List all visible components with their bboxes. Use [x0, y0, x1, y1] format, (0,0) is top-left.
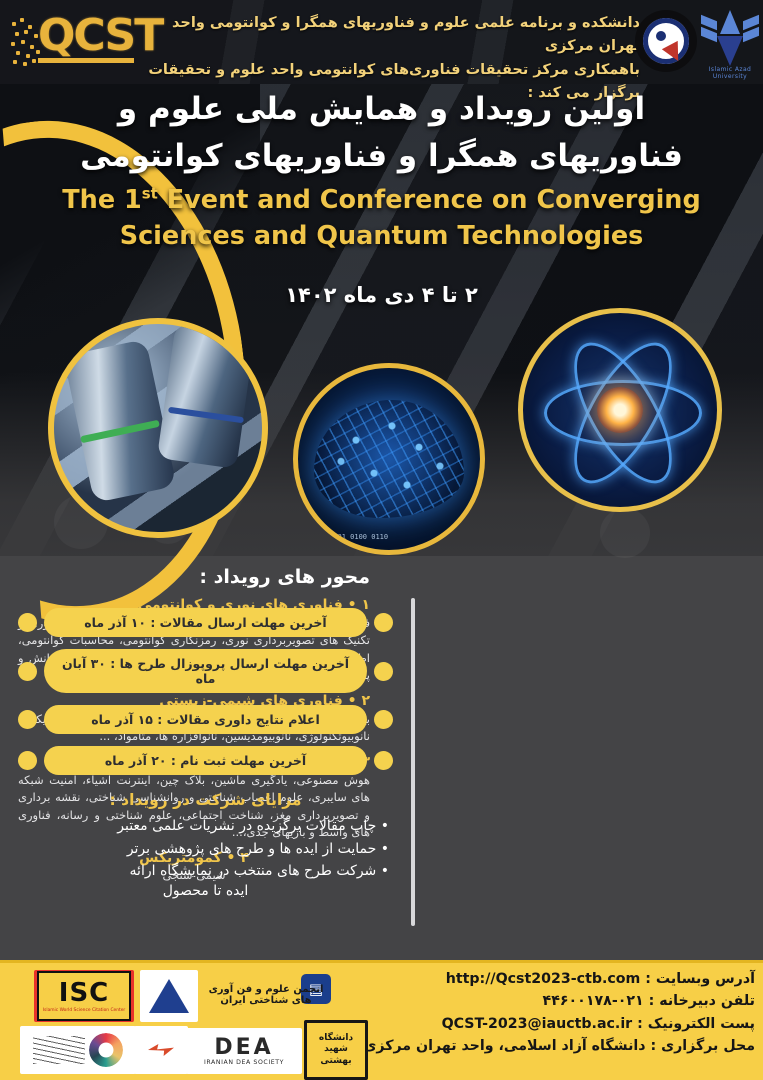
- website-url[interactable]: http://Qcst2023-ctb.com: [446, 971, 641, 987]
- dea-logo-text: DEA: [214, 1037, 273, 1059]
- poster-header: QCST دانشکده و برنامه علمی علوم و فناوری…: [0, 0, 763, 84]
- organizer-line-1: دانشکده و برنامه علمی علوم و فناوریهای ه…: [130, 12, 640, 59]
- benefit-item: • حمایت از ایده ها و طرح های پژوهشی برتر: [18, 838, 393, 861]
- english-title-ordinal-pre: The 1: [62, 185, 141, 215]
- venue-line: محل برگزاری : دانشگاه آزاد اسلامی، واحد …: [335, 1035, 755, 1057]
- english-title-ordinal-suffix: st: [142, 185, 158, 203]
- contact-block: آدرس وبسایت : http://Qcst2023-ctb.com تل…: [335, 968, 755, 1058]
- english-title-line-2: Sciences and Quantum Technologies: [0, 218, 763, 254]
- poster-footer: ▤ آدرس وبسایت : http://Qcst2023-ctb.com …: [0, 960, 763, 1080]
- cognitive-society-logo: [140, 970, 198, 1022]
- bullet-dot-icon: [18, 662, 37, 681]
- english-title: The 1st Event and Conference on Convergi…: [0, 182, 763, 254]
- atom-image: [518, 308, 722, 512]
- beheshti-logo-text: دانشگاه شهید بهشتی: [307, 1033, 365, 1067]
- phone-label: تلفن دبیرخانه :: [649, 993, 755, 1009]
- isc-logo-text: ISC: [59, 980, 109, 1006]
- bullet-dot-icon: [374, 751, 393, 770]
- persian-title: اولین رویداد و همایش ملی علوم و فناوریها…: [0, 86, 763, 180]
- bullet-dot-icon: [374, 613, 393, 632]
- conference-poster: QCST دانشکده و برنامه علمی علوم و فناوری…: [0, 0, 763, 1080]
- niroo-research-logo: [134, 1026, 188, 1074]
- website-label: آدرس وبسایت :: [645, 971, 755, 987]
- benefit-item: • شرکت طرح های منتخب در نمایشگاه ارائه: [18, 860, 393, 883]
- benefit-text: شرکت طرح های منتخب در نمایشگاه ارائه: [130, 863, 377, 879]
- benefit-item: • چاپ مقالات برگزیده در نشریات علمی معتب…: [18, 815, 393, 838]
- bullet-dot-icon: [374, 662, 393, 681]
- bullet-dot-icon: [18, 710, 37, 729]
- azad-university-logo: Islamic Azad University: [701, 6, 759, 78]
- deadline-row: آخرین مهلت ارسال مقالات : ۱۰ آذر ماه: [18, 608, 393, 637]
- microscope-image: [48, 318, 268, 538]
- email-line: پست الکترونیک : QCST-2023@iauctb.ac.ir: [335, 1013, 755, 1035]
- azad-logo-caption: Islamic Azad University: [701, 66, 759, 80]
- deadline-row: اعلام نتایج داوری مقالات : ۱۵ آذر ماه: [18, 705, 393, 734]
- bullet-icon: •: [381, 818, 389, 834]
- qcst-logo-underline: [38, 58, 134, 63]
- deadlines-and-benefits: آخرین مهلت ارسال مقالات : ۱۰ آذر ماه آخر…: [18, 608, 393, 899]
- dea-logo-subtitle: IRANIAN DEA SOCIETY: [204, 1059, 284, 1066]
- venue-label: محل برگزاری :: [651, 1038, 756, 1054]
- dea-society-logo: DEA IRANIAN DEA SOCIETY: [186, 1028, 302, 1074]
- bullet-dot-icon: [18, 751, 37, 770]
- benefit-continuation: ایده تا محصول: [18, 883, 393, 899]
- topics-heading: محور های رویداد :: [18, 566, 370, 588]
- website-line: آدرس وبسایت : http://Qcst2023-ctb.com: [335, 968, 755, 990]
- qcst-logo: QCST: [8, 8, 136, 70]
- persian-title-line-1: اولین رویداد و همایش ملی علوم و: [0, 86, 763, 133]
- event-date: ۲ تا ۴ دی ماه ۱۴۰۲: [0, 283, 763, 307]
- deadline-pill: آخرین مهلت ارسال پروپوزال طرح ها : ۳۰ آب…: [44, 649, 367, 693]
- venue-name: دانشگاه آزاد اسلامی، واحد تهران مرکزی: [363, 1038, 645, 1054]
- circuit-brain-image: 0110 0100 1001 1001: [293, 363, 485, 555]
- bullet-dot-icon: [18, 613, 37, 632]
- email-address[interactable]: QCST-2023@iauctb.ac.ir: [442, 1016, 633, 1032]
- deadline-pill: اعلام نتایج داوری مقالات : ۱۵ آذر ماه: [44, 705, 367, 734]
- bullet-dot-icon: [374, 710, 393, 729]
- sponsor-logos: ISC Islamic World Science Citation Cente…: [6, 964, 336, 1076]
- bullet-icon: •: [381, 841, 389, 857]
- deadline-pill: آخرین مهلت ثبت نام : ۲۰ آذر ماه: [44, 746, 367, 775]
- english-title-rest: Event and Conference on Converging: [167, 185, 701, 215]
- partner-circle-logo: [20, 1026, 136, 1074]
- phone-line: تلفن دبیرخانه : ۰۲۱-۴۴۶۰۰۱۷۸: [335, 990, 755, 1012]
- english-title-line-1: The 1st Event and Conference on Convergi…: [0, 182, 763, 218]
- header-logos: Islamic Azad University: [641, 4, 759, 80]
- benefit-text: چاپ مقالات برگزیده در نشریات علمی معتبر: [117, 818, 376, 834]
- deadline-pill: آخرین مهلت ارسال مقالات : ۱۰ آذر ماه: [44, 608, 367, 637]
- phone-number: ۰۲۱-۴۴۶۰۰۱۷۸: [543, 993, 644, 1009]
- binary-digits: 0110 0100 1001 1001: [308, 533, 388, 542]
- deadline-row: آخرین مهلت ثبت نام : ۲۰ آذر ماه: [18, 746, 393, 775]
- cognitive-society-name: انجمن علوم و فن آوری های شناختی ایران: [202, 984, 330, 1006]
- email-label: پست الکترونیک :: [637, 1016, 755, 1032]
- column-divider: [411, 598, 415, 926]
- persian-title-line-2: فناوریهای همگرا و فناوریهای کوانتومی: [0, 133, 763, 180]
- isc-logo: ISC Islamic World Science Citation Cente…: [34, 970, 134, 1022]
- beheshti-university-logo: دانشگاه شهید بهشتی: [304, 1020, 368, 1080]
- benefits-heading: مزایای شرکت در رویداد :: [18, 791, 393, 809]
- bullet-icon: •: [381, 863, 389, 879]
- decorative-bubble: [600, 508, 650, 558]
- deadline-row: آخرین مهلت ارسال پروپوزال طرح ها : ۳۰ آب…: [18, 649, 393, 693]
- footer-top-rule: [0, 960, 763, 963]
- quantum-research-center-logo: [635, 10, 697, 72]
- benefit-text: حمایت از ایده ها و طرح های پژوهشی برتر: [127, 841, 376, 857]
- isc-logo-subtitle: Islamic World Science Citation Center: [43, 1008, 125, 1013]
